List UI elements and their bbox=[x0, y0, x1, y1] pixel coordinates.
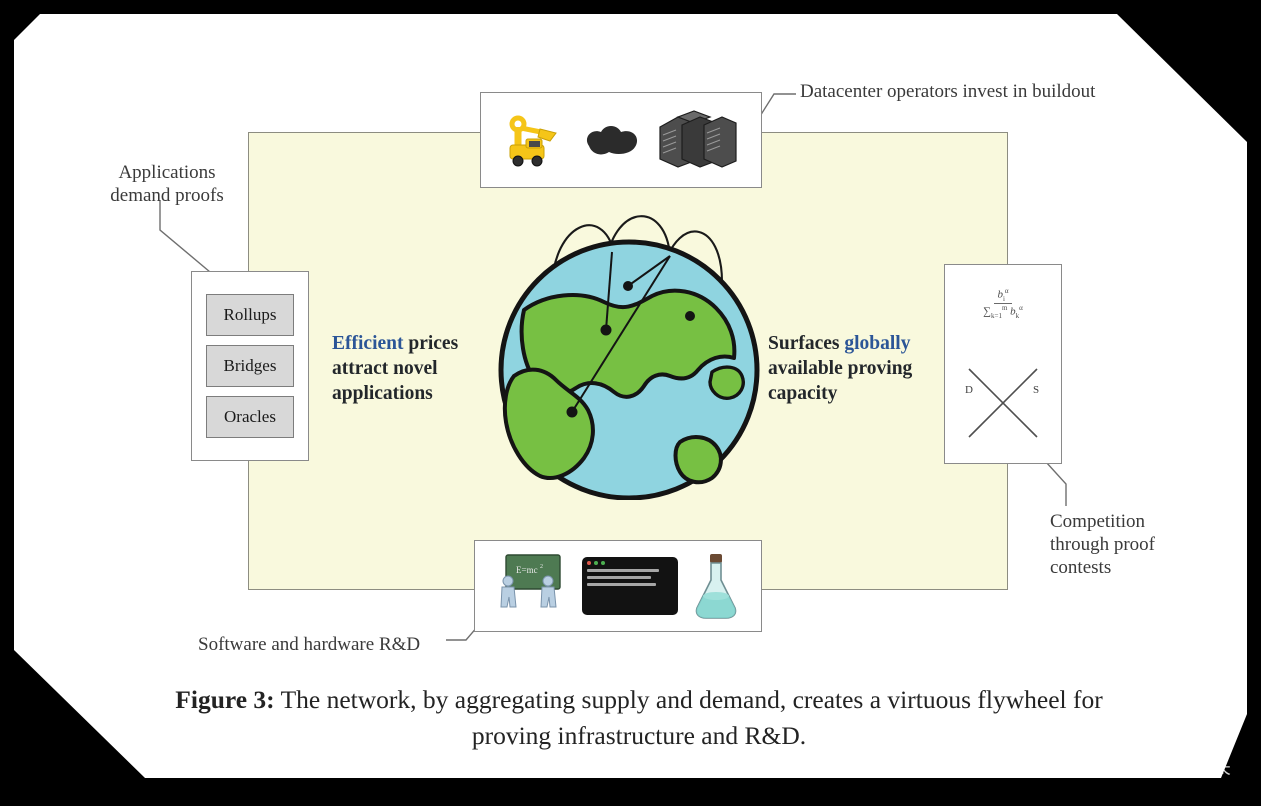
watermark-handle: @Van社长 bbox=[1148, 754, 1231, 779]
statement-efficient-prices: Efficient prices attract novel applicati… bbox=[332, 332, 482, 407]
svg-text:E=mc: E=mc bbox=[516, 565, 538, 575]
screenshot-stage: E=mc 2 bbox=[0, 0, 1261, 792]
watermark: @Van社长 bbox=[1124, 754, 1231, 779]
annotation-competition: Competition through proof contests bbox=[1050, 510, 1230, 580]
figure-page: E=mc 2 bbox=[14, 14, 1247, 778]
coal-cloud-icon bbox=[581, 120, 643, 160]
datacenter-panel bbox=[480, 92, 762, 188]
supply-curve-label: S bbox=[1033, 384, 1039, 396]
diamond-logo-icon bbox=[1124, 757, 1143, 776]
annotation-rnd: Software and hardware R&D bbox=[198, 633, 420, 656]
supply-demand-cross: D S bbox=[945, 351, 1061, 461]
statement-right-accent: globally bbox=[844, 333, 910, 354]
terminal-dots bbox=[587, 561, 673, 565]
statement-global-capacity: Surfaces globally available proving capa… bbox=[768, 332, 938, 407]
figure-caption: Figure 3: The network, by aggregating su… bbox=[134, 682, 1144, 754]
research-panel: E=mc 2 bbox=[474, 540, 762, 632]
annotation-applications: Applications demand proofs bbox=[92, 161, 242, 207]
crane-truck-icon bbox=[502, 109, 568, 171]
svg-text:2: 2 bbox=[540, 564, 543, 570]
applications-panel: Rollups Bridges Oracles bbox=[191, 271, 309, 461]
annotation-datacenter: Datacenter operators invest in buildout bbox=[800, 80, 1095, 103]
terminal-window-icon bbox=[582, 557, 678, 615]
chip-bridges[interactable]: Bridges bbox=[206, 345, 294, 387]
chip-oracles[interactable]: Oracles bbox=[206, 396, 294, 438]
figure-caption-label: Figure 3: bbox=[175, 685, 274, 714]
chip-rollups[interactable]: Rollups bbox=[206, 294, 294, 336]
lab-flask-icon bbox=[688, 550, 744, 622]
figure-caption-text: The network, by aggregating supply and d… bbox=[281, 685, 1103, 750]
chalkboard-teaching-icon: E=mc 2 bbox=[492, 551, 572, 621]
proof-contest-panel: biα ∑k=1m bkα D S bbox=[944, 264, 1062, 464]
statement-left-accent: Efficient bbox=[332, 333, 403, 354]
globe-illustration bbox=[484, 190, 774, 500]
proof-share-formula: biα ∑k=1m bkα bbox=[945, 287, 1061, 320]
statement-right-rest: available proving capacity bbox=[768, 358, 912, 404]
server-rack-icon bbox=[656, 109, 740, 171]
demand-curve-label: D bbox=[965, 384, 973, 396]
statement-right-lead: Surfaces bbox=[768, 333, 844, 354]
